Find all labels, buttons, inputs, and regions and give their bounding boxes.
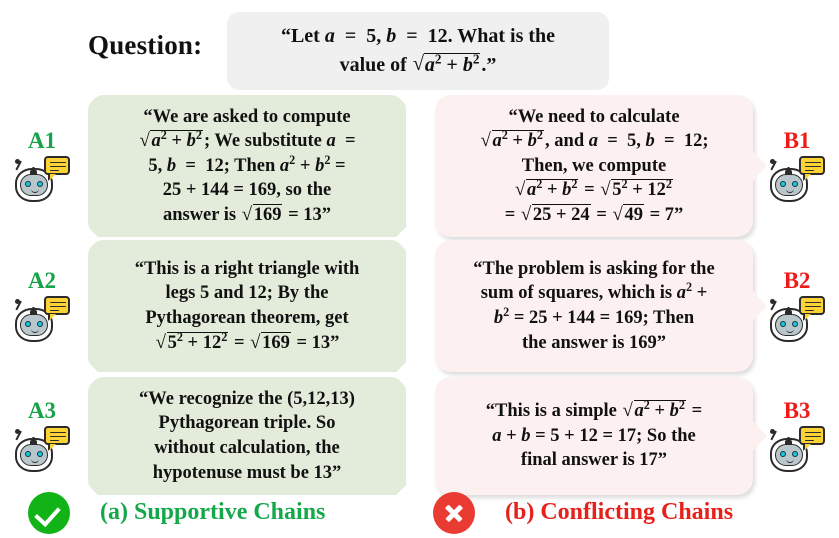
chain-bubble-b2: “The problem is asking for the sum of sq… [435,240,753,372]
antenna-icon [770,299,780,310]
question-line-1: “Let a = 5, b = 12. What is the [281,22,555,51]
chain-bubble-a2: “This is a right triangle with legs 5 an… [88,240,406,372]
agent-tag-b3: B3 [755,377,839,495]
chain-bubble-b1: “We need to calculate a2 + b2, and a = 5… [435,95,753,237]
check-circle-icon [28,492,70,534]
antenna-icon [15,299,25,310]
speech-bubble-icon [44,426,70,445]
robot-icon [766,156,828,204]
supportive-chain-a3: A3 “We recognize the (5,12,13) Pythagore… [0,377,412,495]
robot-icon [11,156,73,204]
question-label: Question: [88,30,202,61]
agent-id-a3: A3 [28,399,56,422]
speech-bubble-icon [799,296,825,315]
chain-bubble-a1: “We are asked to compute a2 + b2; We sub… [88,95,406,237]
agent-tag-a3: A3 [0,377,84,495]
antenna-icon [770,429,780,440]
supportive-chain-a2: A2 “This is a right triangle with legs 5… [0,240,412,372]
antenna-icon [770,159,780,170]
robot-icon [766,426,828,474]
chain-row-3: A3 “We recognize the (5,12,13) Pythagore… [0,377,839,495]
speech-bubble-icon [799,156,825,175]
antenna-icon [15,159,25,170]
caption-conflicting-text: (b) Conflicting Chains [505,499,733,526]
agent-tag-b1: B1 [755,95,839,237]
caption-conflicting: (b) Conflicting Chains [433,487,733,538]
speech-bubble-icon [44,296,70,315]
agent-id-b2: B2 [784,269,811,292]
agent-id-a1: A1 [28,129,56,152]
caption-supportive: (a) Supportive Chains [28,487,325,538]
agent-tag-b2: B2 [755,240,839,372]
supportive-chain-a1: A1 “We are asked to compute a2 + b2; We … [0,95,412,237]
caption-row: (a) Supportive Chains (b) Conflicting Ch… [0,487,839,538]
speech-bubble-icon [799,426,825,445]
figure-root: Question: “Let a = 5, b = 12. What is th… [0,0,839,538]
conflicting-chain-b1: “We need to calculate a2 + b2, and a = 5… [427,95,839,237]
agent-tag-a1: A1 [0,95,84,237]
question-line-2: value of a2 + b2.” [340,51,497,80]
conflicting-chain-b3: “This is a simple a2 + b2 = a + b = 5 + … [427,377,839,495]
caption-supportive-text: (a) Supportive Chains [100,499,325,526]
chain-bubble-b3: “This is a simple a2 + b2 = a + b = 5 + … [435,377,753,495]
robot-icon [11,296,73,344]
conflicting-chain-b2: “The problem is asking for the sum of sq… [427,240,839,372]
agent-tag-a2: A2 [0,240,84,372]
robot-icon [11,426,73,474]
question-box: “Let a = 5, b = 12. What is the value of… [227,12,609,90]
agent-id-a2: A2 [28,269,56,292]
chain-bubble-a3: “We recognize the (5,12,13) Pythagorean … [88,377,406,495]
robot-icon [766,296,828,344]
agent-id-b3: B3 [784,399,811,422]
chain-row-1: A1 “We are asked to compute a2 + b2; We … [0,95,839,237]
question-row: Question: “Let a = 5, b = 12. What is th… [0,6,839,92]
speech-bubble-icon [44,156,70,175]
agent-id-b1: B1 [784,129,811,152]
antenna-icon [15,429,25,440]
cross-circle-icon [433,492,475,534]
chain-row-2: A2 “This is a right triangle with legs 5… [0,240,839,372]
